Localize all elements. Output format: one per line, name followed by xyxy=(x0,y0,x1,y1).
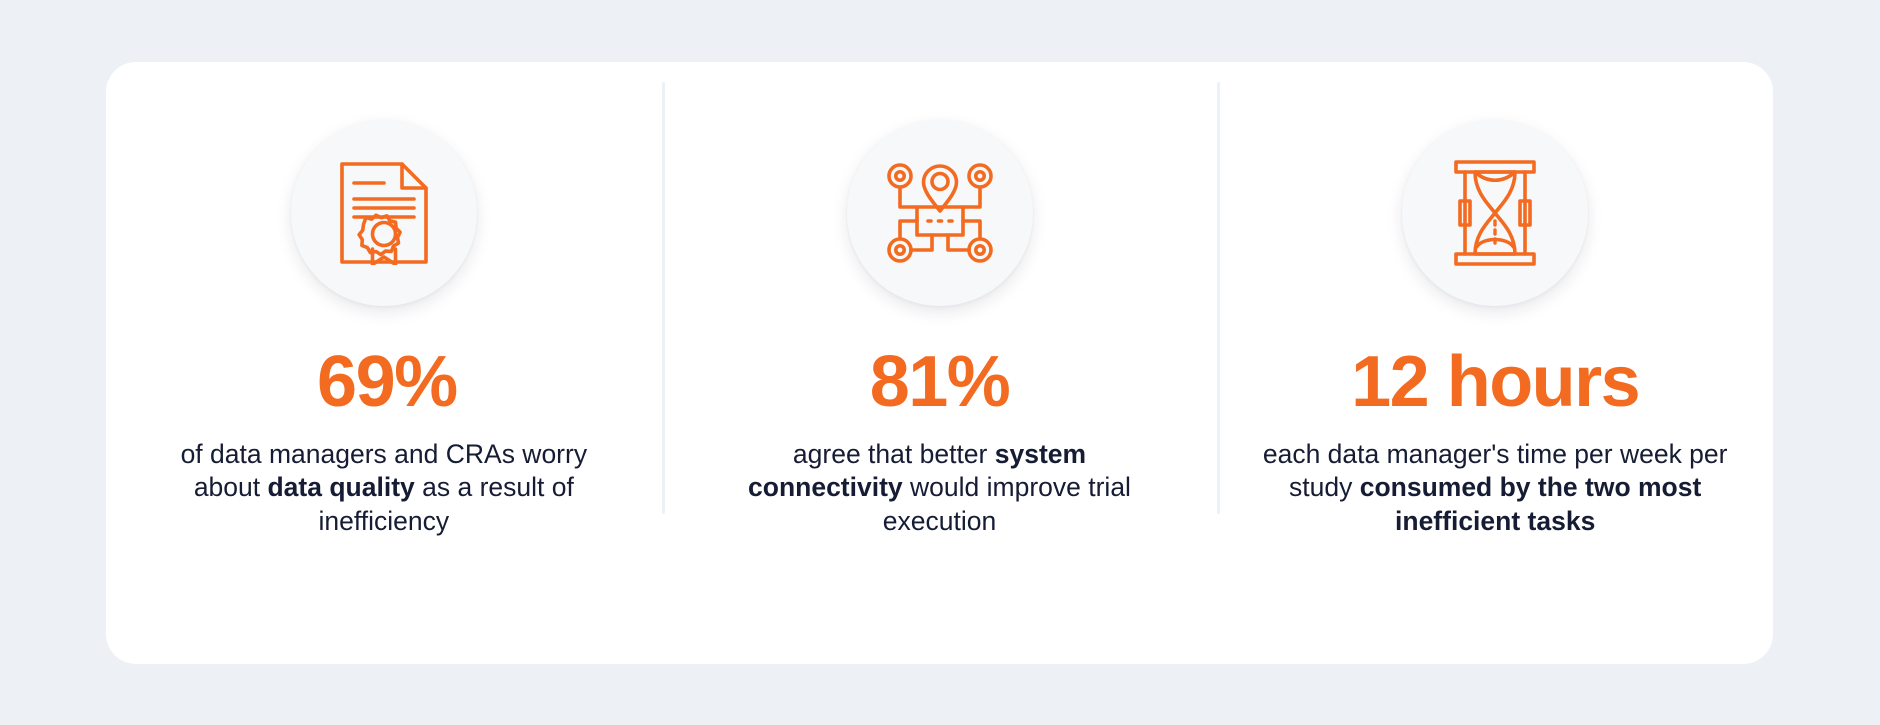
icon-circle-3 xyxy=(1402,120,1588,306)
stat-description-2-after: would improve trial execution xyxy=(883,472,1131,535)
stat-description-1: of data managers and CRAs worry about da… xyxy=(169,438,599,538)
stat-description-2-before: agree that better xyxy=(793,439,995,469)
hourglass-icon xyxy=(1453,159,1537,267)
stat-value-2: 81% xyxy=(870,346,1010,418)
stats-card: 69% of data managers and CRAs worry abou… xyxy=(106,62,1773,664)
page-root: 69% of data managers and CRAs worry abou… xyxy=(0,0,1880,725)
stat-description-3-bold: consumed by the two most inefficient tas… xyxy=(1360,472,1702,535)
network-connectivity-icon xyxy=(887,163,993,263)
icon-circle-1 xyxy=(291,120,477,306)
stat-description-2: agree that better system connectivity wo… xyxy=(725,438,1155,538)
certificate-icon xyxy=(336,161,432,265)
stat-column-1: 69% of data managers and CRAs worry abou… xyxy=(106,62,662,664)
stat-column-3: 12 hours each data manager's time per we… xyxy=(1217,62,1773,664)
stat-value-3: 12 hours xyxy=(1351,346,1639,418)
stat-column-2: 81% agree that better system connectivit… xyxy=(662,62,1218,664)
icon-circle-2 xyxy=(847,120,1033,306)
stat-value-1: 69% xyxy=(317,346,457,418)
stat-description-1-bold: data quality xyxy=(268,472,415,502)
stat-description-3: each data manager's time per week per st… xyxy=(1260,438,1730,538)
